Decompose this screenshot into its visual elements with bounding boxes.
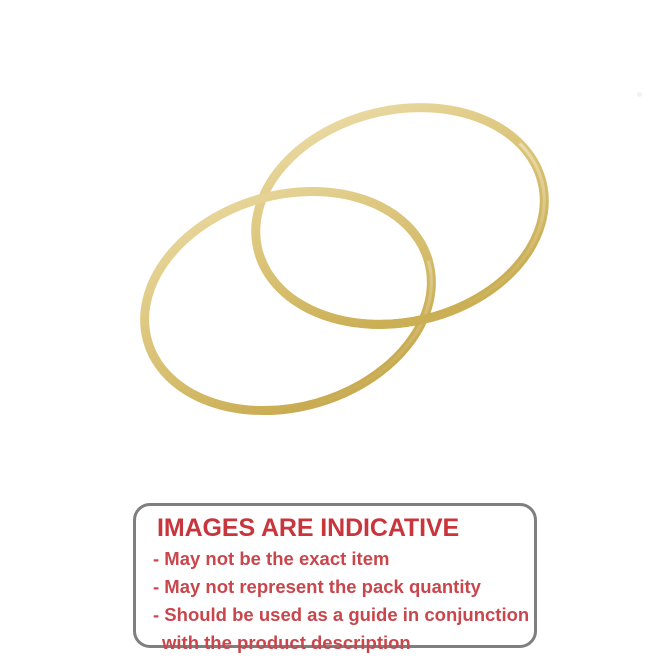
callout-line-1: - May not be the exact item bbox=[153, 545, 534, 573]
product-photo bbox=[0, 0, 670, 500]
callout-line-2: - May not represent the pack quantity bbox=[153, 573, 534, 601]
callout-heading: IMAGES ARE INDICATIVE bbox=[157, 515, 534, 541]
scan-artifact bbox=[637, 92, 642, 97]
images-are-indicative-callout: IMAGES ARE INDICATIVE - May not be the e… bbox=[133, 503, 537, 648]
o-rings-illustration bbox=[0, 0, 670, 500]
callout-line-3: - Should be used as a guide in conjuncti… bbox=[153, 601, 534, 629]
callout-disclaimer-list: - May not be the exact item - May not re… bbox=[136, 545, 534, 657]
callout-line-4: with the product description bbox=[162, 629, 534, 657]
product-image-canvas: IMAGES ARE INDICATIVE - May not be the e… bbox=[0, 0, 670, 670]
